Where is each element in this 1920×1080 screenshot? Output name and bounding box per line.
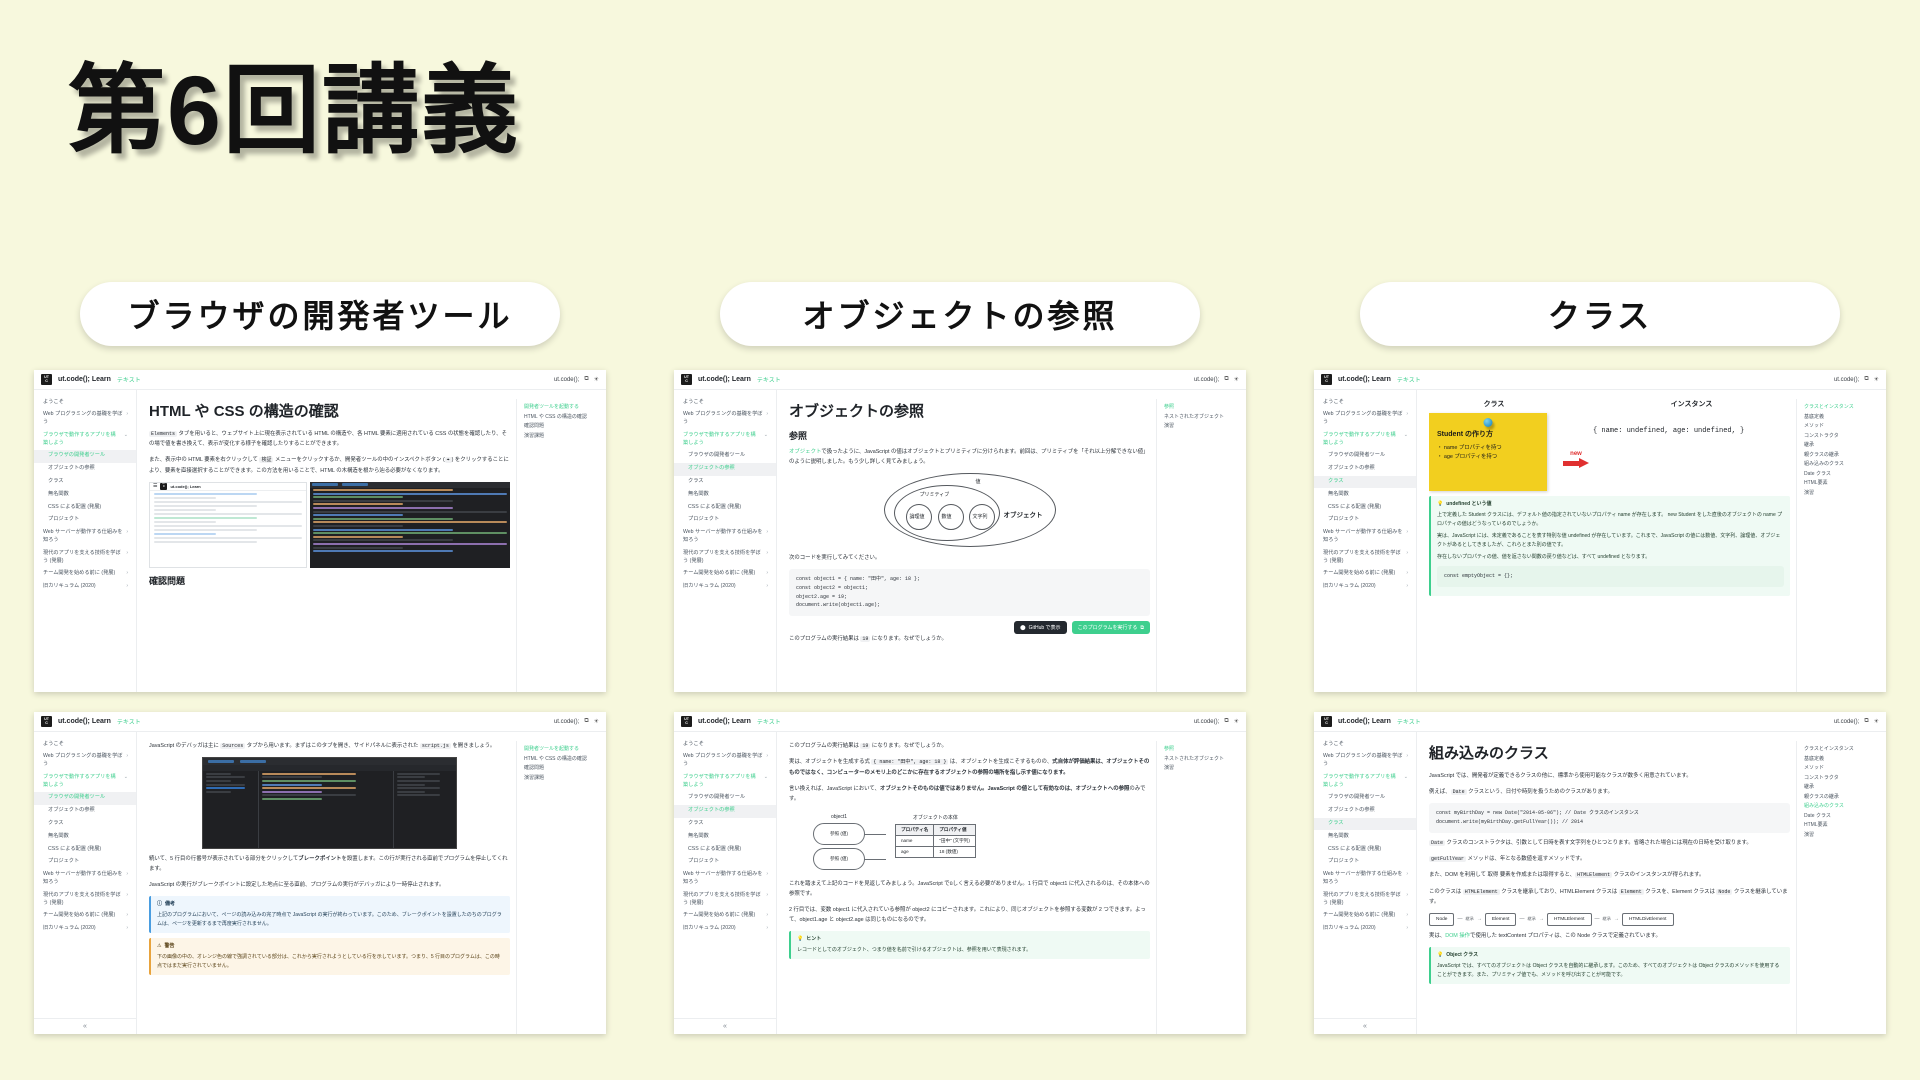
toc-item[interactable]: 演習 xyxy=(1804,489,1882,499)
venn-diagram: 値 プリミティブ 論理値 数値 文字列 オブジェクト xyxy=(884,473,1056,547)
sidebar-scroll[interactable]: ようこそ Web プログラミングの基礎を学ぼう› ブラウザで動作するアプリを構築… xyxy=(674,738,776,1018)
chevron-right-icon: › xyxy=(126,550,128,558)
sidebar-item-anonymous-function[interactable]: 無名関数 xyxy=(674,830,776,843)
paragraph-3: Date クラスのコンストラクタは、引数として日時を表す文字列をひとつとります。… xyxy=(1429,838,1790,848)
mock-brand: ut.code(); Learn xyxy=(170,484,200,489)
sidebar-item-webserver[interactable]: Web サーバーが動作する仕組みを知ろう› xyxy=(674,869,776,890)
callout-body: 上記のプログラムにおいて、ページの読み込みの完了時点で JavaScript の… xyxy=(157,911,504,929)
external-link-icon[interactable]: ⧉ xyxy=(1224,376,1228,383)
inline-code-element: Element xyxy=(1619,889,1644,895)
dom-line xyxy=(313,518,453,520)
sidebar-item-object-reference[interactable]: オブジェクトの参照 xyxy=(1314,463,1416,476)
toc-item[interactable]: メソッド xyxy=(1804,422,1882,432)
dom-line xyxy=(313,493,507,495)
top-right-brand[interactable]: ut.code(); xyxy=(1834,377,1859,383)
dom-line xyxy=(313,536,403,538)
sidebar-item-anonymous-function[interactable]: 無名関数 xyxy=(674,488,776,501)
sidebar-item-browser-apps[interactable]: ブラウザで動作するアプリを構築しよう⌄ xyxy=(34,771,136,792)
table-header-row: プロパティ名 プロパティ値 xyxy=(896,824,976,835)
sidebar-item-old-curriculum[interactable]: 旧カリキュラム (2020)› xyxy=(1314,581,1416,594)
chevron-right-icon: › xyxy=(766,912,768,920)
sidebar-item-modern-tech[interactable]: 現代のアプリを支える技術を学ぼう (発展)› xyxy=(674,889,776,910)
debug-line xyxy=(397,780,440,782)
paragraph-2: また、表示中の HTML 要素を右クリックして 検証 メニューをクリックするか、… xyxy=(149,455,510,475)
sidebar-item-anonymous-function[interactable]: 無名関数 xyxy=(1314,830,1416,843)
table-header-cell: プロパティ名 xyxy=(896,824,934,835)
sidebar-item-project[interactable]: プロジェクト xyxy=(34,514,136,527)
inline-code-inspect: 検証 xyxy=(259,457,273,463)
toc-item[interactable]: コンストラクタ xyxy=(1804,774,1882,784)
sidebar-item-devtools[interactable]: ブラウザの開発者ツール xyxy=(1314,792,1416,805)
sidebar-item-object-reference[interactable]: オブジェクトの参照 xyxy=(34,805,136,818)
toc-item[interactable]: 開発者ツールを起動する xyxy=(524,745,602,755)
sidebar-item-webserver[interactable]: Web サーバーが動作する仕組みを知ろう› xyxy=(674,527,776,548)
sun-icon[interactable]: ☀ xyxy=(1874,376,1879,383)
mock-text-line xyxy=(154,493,257,495)
toc-item[interactable]: 親クラスの継承 xyxy=(1804,451,1882,461)
devtools-chip xyxy=(208,760,234,763)
nav-link-text[interactable]: テキスト xyxy=(757,375,781,384)
main-content: 組み込みのクラス JavaScript では、開発者が定義できるクラスの他に、標… xyxy=(1417,732,1886,1034)
sidebar-item-webprog-basics[interactable]: Web プログラミングの基礎を学ぼう› xyxy=(1314,751,1416,772)
sidebar-scroll[interactable]: ようこそ Web プログラミングの基礎を学ぼう› ブラウザで動作するアプリを構築… xyxy=(1314,738,1416,1018)
sidebar-item-welcome[interactable]: ようこそ xyxy=(674,738,776,751)
topic-pill-class[interactable]: クラス xyxy=(1360,282,1840,346)
devtools-panes xyxy=(203,771,456,849)
sidebar-item-css-layout[interactable]: CSS による配置 (発展) xyxy=(34,843,136,856)
paragraph-4: getFullYear メソッドは、年となる数値を返すメソッドです。 xyxy=(1429,854,1790,864)
debug-line xyxy=(397,776,425,778)
brand-name: ut.code(); Learn xyxy=(698,718,751,725)
screenshot-grid: UT C ut.code(); Learn テキスト ut.code(); ⧉ … xyxy=(0,370,1920,1034)
app-header: UTC ut.code(); Learn テキスト ut.code(); ⧉ ☀ xyxy=(34,712,606,732)
paragraph-7: 実は、DOM 操作で使用した textContent プロパティは、この Nod… xyxy=(1429,931,1790,941)
top-right-brand[interactable]: ut.code(); xyxy=(554,377,579,383)
topic-pill-row: ブラウザの開発者ツール オブジェクトの参照 クラス xyxy=(0,282,1920,346)
reference-box: 参照 (値) xyxy=(813,848,865,870)
code-line xyxy=(262,791,322,793)
sun-icon[interactable]: ☀ xyxy=(1234,376,1239,383)
callout-paragraph: 上で定義した Student クラスには、デフォルト値の指定されていないプロパテ… xyxy=(1437,511,1784,529)
header-right-group: ut.code(); ⧉ ☀ xyxy=(1194,718,1239,725)
main-content: オブジェクトの参照 参照 オブジェクトで扱ったように、JavaScript の値… xyxy=(777,390,1246,692)
sidebar-item-devtools[interactable]: ブラウザの開発者ツール xyxy=(34,450,136,463)
sidebar-item-css-layout[interactable]: CSS による配置 (発展) xyxy=(1314,501,1416,514)
chevron-right-icon: › xyxy=(126,570,128,578)
sidebar[interactable]: ようこそ Web プログラミングの基礎を学ぼう› ブラウザで動作するアプリを構築… xyxy=(1314,390,1417,692)
code-line xyxy=(262,787,356,789)
sidebar-item-css-layout[interactable]: CSS による配置 (発展) xyxy=(674,501,776,514)
link-dom[interactable]: DOM 操作 xyxy=(1445,933,1470,939)
sidebar-item-anonymous-function[interactable]: 無名関数 xyxy=(1314,488,1416,501)
sidebar-item-team-dev[interactable]: チーム開発を始める前に (発展)› xyxy=(674,568,776,581)
callout-paragraph: 実は、JavaScript には、未定義であることを表す特別な値 undefin… xyxy=(1437,532,1784,550)
sidebar-item-old-curriculum[interactable]: 旧カリキュラム (2020)› xyxy=(1314,923,1416,936)
external-link-icon[interactable]: ⧉ xyxy=(1864,376,1868,383)
code-block[interactable]: const myBirthDay = new Date("2014-05-06"… xyxy=(1429,803,1790,833)
sidebar[interactable]: ようこそ Web プログラミングの基礎を学ぼう› ブラウザで動作するアプリを構築… xyxy=(34,390,137,692)
code-block[interactable]: const object1 = { name: "田中", age: 18 };… xyxy=(789,569,1150,616)
toc-item[interactable]: 演習 xyxy=(1164,422,1242,432)
article-column: HTML や CSS の構造の確認 Elements タブを用いると、ウェブサイ… xyxy=(149,399,510,692)
chevron-right-icon: › xyxy=(1406,411,1408,419)
venn-label-string: 文字列 xyxy=(973,513,988,520)
sidebar-item-webprog-basics[interactable]: Web プログラミングの基礎を学ぼう› xyxy=(1314,409,1416,430)
dom-line xyxy=(313,514,403,516)
sidebar-item-webprog-basics[interactable]: Web プログラミングの基礎を学ぼう› xyxy=(34,751,136,772)
warning-icon: ⚠ xyxy=(157,942,161,951)
toc-item[interactable]: 確認問題 xyxy=(524,764,602,774)
screenshot-reference-diagram[interactable]: UTC ut.code(); Learn テキスト ut.code(); ⧉ ☀… xyxy=(674,712,1246,1034)
sidebar-scroll[interactable]: ようこそ Web プログラミングの基礎を学ぼう› ブラウザで動作するアプリを構築… xyxy=(674,396,776,692)
app-header: UTC ut.code(); Learn テキスト ut.code(); ⧉ ☀ xyxy=(1314,712,1886,732)
new-operator-arrow: new xyxy=(1563,427,1589,491)
chevron-down-icon: ⌄ xyxy=(124,774,128,782)
toc-item[interactable]: 確認問題 xyxy=(524,422,602,432)
toc-item[interactable]: HTML や CSS の構造の確認 xyxy=(524,413,602,423)
toc-item[interactable]: HTML要素 xyxy=(1804,479,1882,489)
toc-item[interactable]: 参照 xyxy=(1164,403,1242,413)
chevron-right-icon: › xyxy=(1406,753,1408,761)
toc-item[interactable]: HTML要素 xyxy=(1804,821,1882,831)
nav-link-text[interactable]: テキスト xyxy=(1397,717,1421,726)
sidebar-item-modern-tech[interactable]: 現代のアプリを支える技術を学ぼう (発展)› xyxy=(1314,889,1416,910)
table-of-contents[interactable]: 開発者ツールを起動する HTML や CSS の構造の確認 確認問題 演習課題 xyxy=(516,741,602,1034)
app-body: ようこそ Web プログラミングの基礎を学ぼう› ブラウザで動作するアプリを構築… xyxy=(1314,390,1886,692)
sidebar[interactable]: ようこそ Web プログラミングの基礎を学ぼう› ブラウザで動作するアプリを構築… xyxy=(1314,732,1417,1034)
table-header-cell: プロパティ値 xyxy=(934,824,976,835)
chevron-right-icon: › xyxy=(1406,892,1408,900)
tree-node xyxy=(206,776,245,778)
external-link-icon[interactable]: ⧉ xyxy=(1864,718,1868,725)
brand-name: ut.code(); Learn xyxy=(58,376,111,383)
sidebar-item-class[interactable]: クラス xyxy=(34,818,136,831)
app-body: ようこそ Web プログラミングの基礎を学ぼう› ブラウザで動作するアプリを構築… xyxy=(674,390,1246,692)
sidebar[interactable]: ようこそ Web プログラミングの基礎を学ぼう› ブラウザで動作するアプリを構築… xyxy=(674,732,777,1034)
app-body: ようこそ Web プログラミングの基礎を学ぼう› ブラウザで動作するアプリを構築… xyxy=(34,732,606,1034)
sidebar-item-project[interactable]: プロジェクト xyxy=(34,856,136,869)
toc-item[interactable]: 継承 xyxy=(1804,783,1882,793)
sidebar-item-webserver[interactable]: Web サーバーが動作する仕組みを知ろう› xyxy=(34,869,136,890)
app-header: UTC ut.code(); Learn テキスト ut.code(); ⧉ ☀ xyxy=(1314,370,1886,390)
toc-item[interactable]: ネストされたオブジェクト xyxy=(1164,413,1242,423)
sun-icon[interactable]: ☀ xyxy=(594,376,599,383)
sidebar-item-class[interactable]: クラス xyxy=(34,476,136,489)
table-of-contents[interactable]: 参照 ネストされたオブジェクト 演習 xyxy=(1156,741,1242,1034)
external-link-icon[interactable]: ⧉ xyxy=(1224,718,1228,725)
sidebar-item-webprog-basics[interactable]: Web プログラミングの基礎を学ぼう› xyxy=(674,751,776,772)
sidebar-item-project[interactable]: プロジェクト xyxy=(1314,856,1416,869)
callout-code: const emptyObject = {}; xyxy=(1437,566,1784,587)
callout-body: JavaScript では、すべてのオブジェクトは Object クラスを自動的… xyxy=(1437,962,1784,980)
table-of-contents[interactable]: 開発者ツールを起動する HTML や CSS の構造の確認 確認問題 演習課題 xyxy=(516,399,602,692)
sidebar-item-css-layout[interactable]: CSS による配置 (発展) xyxy=(1314,843,1416,856)
screenshot-class-instance[interactable]: UTC ut.code(); Learn テキスト ut.code(); ⧉ ☀… xyxy=(1314,370,1886,692)
dom-line xyxy=(313,521,507,523)
logo-bottom-text: C xyxy=(45,380,48,384)
github-view-button[interactable]: ⬤GitHub で表示 xyxy=(1014,621,1067,634)
sidebar-item-devtools[interactable]: ブラウザの開発者ツール xyxy=(1314,450,1416,463)
tree-node xyxy=(206,791,231,793)
toc-item[interactable]: ネストされたオブジェクト xyxy=(1164,755,1242,765)
sidebar-item-devtools[interactable]: ブラウザの開発者ツール xyxy=(34,792,136,805)
top-right-brand[interactable]: ut.code(); xyxy=(1194,719,1219,725)
sun-icon[interactable]: ☀ xyxy=(594,718,599,725)
warning-callout: ⚠警告 下の画像の中の、オレンジ色の線で強調されている部分は、これから実行されよ… xyxy=(149,938,510,975)
debug-line xyxy=(397,794,440,796)
arrow-right-icon xyxy=(1563,458,1589,468)
sidebar-item-project[interactable]: プロジェクト xyxy=(674,856,776,869)
app-body: ようこそ Web プログラミングの基礎を学ぼう› ブラウザで動作するアプリを構築… xyxy=(1314,732,1886,1034)
sidebar-item-modern-tech[interactable]: 現代のアプリを支える技術を学ぼう (発展)› xyxy=(34,547,136,568)
chain-label: 継承 xyxy=(1527,916,1535,922)
chevron-right-icon: › xyxy=(1406,912,1408,920)
sidebar-item-anonymous-function[interactable]: 無名関数 xyxy=(34,830,136,843)
instance-object-code: { name: undefined, age: undefined, } xyxy=(1593,425,1790,438)
app-header: UT C ut.code(); Learn テキスト ut.code(); ⧉ … xyxy=(34,370,606,390)
chevron-down-icon: ⌄ xyxy=(764,432,768,440)
toc-item[interactable]: 基底定義 xyxy=(1804,413,1882,423)
toc-item[interactable]: 開発者ツールを起動する xyxy=(524,403,602,413)
nav-link-text[interactable]: テキスト xyxy=(1397,375,1421,384)
sidebar-item-class[interactable]: クラス xyxy=(674,476,776,489)
property-table: プロパティ名 プロパティ値 name "田中" (文字列) xyxy=(895,824,976,858)
callout-title: 💡ヒント xyxy=(797,935,1144,944)
article-column: このプログラムの実行結果は 19 になります。なぜでしょうか。 実は、オブジェク… xyxy=(789,741,1150,1034)
sticky-note: Student の作り方 ・ name プロパティを持つ ・ age プロパティ… xyxy=(1429,413,1547,491)
sidebar-item-welcome[interactable]: ようこそ xyxy=(34,396,136,409)
chevron-down-icon: ⌄ xyxy=(1404,432,1408,440)
toc-item[interactable]: クラスとインスタンス xyxy=(1804,403,1882,413)
sidebar-item-class[interactable]: クラス xyxy=(674,818,776,831)
sidebar-item-class[interactable]: クラス xyxy=(1314,476,1416,489)
screenshot-devtools-structure[interactable]: UT C ut.code(); Learn テキスト ut.code(); ⧉ … xyxy=(34,370,606,692)
nav-link-text[interactable]: テキスト xyxy=(117,717,141,726)
code-line xyxy=(262,776,322,778)
toc-item[interactable]: メソッド xyxy=(1804,764,1882,774)
sun-icon[interactable]: ☀ xyxy=(1234,718,1239,725)
sidebar-item-welcome[interactable]: ようこそ xyxy=(674,396,776,409)
inline-code-elements: Elements xyxy=(149,431,177,437)
sidebar-item-old-curriculum[interactable]: 旧カリキュラム (2020)› xyxy=(34,923,136,936)
toc-item[interactable]: 親クラスの継承 xyxy=(1804,793,1882,803)
dom-line xyxy=(313,550,453,552)
header-right-group: ut.code(); ⧉ ☀ xyxy=(1834,718,1879,725)
sidebar-item-welcome[interactable]: ようこそ xyxy=(1314,396,1416,409)
lightbulb-icon: 💡 xyxy=(1437,951,1443,960)
sidebar-scroll[interactable]: ようこそ Web プログラミングの基礎を学ぼう› ブラウザで動作するアプリを構築… xyxy=(34,738,136,1018)
chevron-down-icon: ⌄ xyxy=(1404,774,1408,782)
nav-link-text[interactable]: テキスト xyxy=(757,717,781,726)
sidebar-item-modern-tech[interactable]: 現代のアプリを支える技術を学ぼう (発展)› xyxy=(34,889,136,910)
sidebar-item-browser-apps[interactable]: ブラウザで動作するアプリを構築しよう⌄ xyxy=(674,771,776,792)
sidebar-item-modern-tech[interactable]: 現代のアプリを支える技術を学ぼう (発展)› xyxy=(1314,547,1416,568)
topic-pill-object-reference[interactable]: オブジェクトの参照 xyxy=(720,282,1200,346)
sidebar-item-webserver[interactable]: Web サーバーが動作する仕組みを知ろう› xyxy=(1314,869,1416,890)
toc-item[interactable]: Date クラス xyxy=(1804,470,1882,480)
sidebar-item-old-curriculum[interactable]: 旧カリキュラム (2020)› xyxy=(674,581,776,594)
sidebar-item-css-layout[interactable]: CSS による配置 (発展) xyxy=(674,843,776,856)
arrow-right-icon: → xyxy=(1477,916,1482,922)
sidebar-item-team-dev[interactable]: チーム開発を始める前に (発展)› xyxy=(34,568,136,581)
sidebar-collapse-button[interactable]: « xyxy=(1314,1018,1416,1034)
toc-item[interactable]: 継承 xyxy=(1804,441,1882,451)
toc-item[interactable]: 基底定義 xyxy=(1804,755,1882,765)
sidebar-scroll[interactable]: ようこそ Web プログラミングの基礎を学ぼう› ブラウザで動作するアプリを構築… xyxy=(34,396,136,692)
chevron-right-icon: › xyxy=(126,912,128,920)
sidebar-item-webprog-basics[interactable]: Web プログラミングの基礎を学ぼう› xyxy=(674,409,776,430)
sidebar-item-anonymous-function[interactable]: 無名関数 xyxy=(34,488,136,501)
lightbulb-icon: 💡 xyxy=(797,935,803,944)
sidebar-item-team-dev[interactable]: チーム開発を始める前に (発展)› xyxy=(1314,568,1416,581)
sidebar-item-welcome[interactable]: ようこそ xyxy=(1314,738,1416,751)
sidebar-item-webserver[interactable]: Web サーバーが動作する仕組みを知ろう› xyxy=(1314,527,1416,548)
page-heading: HTML や CSS の構造の確認 xyxy=(149,400,510,421)
top-right-brand[interactable]: ut.code(); xyxy=(554,719,579,725)
venn-label-number: 数値 xyxy=(942,513,952,520)
toc-item[interactable]: 演習課題 xyxy=(524,432,602,442)
chain-label: 継承 xyxy=(1465,916,1473,922)
sidebar[interactable]: ようこそ Web プログラミングの基礎を学ぼう› ブラウザで動作するアプリを構築… xyxy=(34,732,137,1034)
topic-pill-devtools[interactable]: ブラウザの開発者ツール xyxy=(80,282,560,346)
chevron-right-icon: › xyxy=(766,411,768,419)
utcode-logo-icon: UTC xyxy=(681,716,692,727)
screenshot-debugger[interactable]: UTC ut.code(); Learn テキスト ut.code(); ⧉ ☀… xyxy=(34,712,606,1034)
utcode-logo-icon: UT C xyxy=(41,374,52,385)
utcode-logo-icon: UTC xyxy=(681,374,692,385)
sidebar-item-modern-tech[interactable]: 現代のアプリを支える技術を学ぼう (発展)› xyxy=(674,547,776,568)
mock-text-line xyxy=(154,505,257,507)
sidebar-item-browser-apps[interactable]: ブラウザで動作するアプリを構築しよう⌄ xyxy=(34,429,136,450)
chain-node-node: Node xyxy=(1429,913,1454,926)
sidebar-item-team-dev[interactable]: チーム開発を始める前に (発展)› xyxy=(674,910,776,923)
sidebar-item-old-curriculum[interactable]: 旧カリキュラム (2020)› xyxy=(674,923,776,936)
page-heading: オブジェクトの参照 xyxy=(789,400,1150,421)
toc-item[interactable]: 組み込みのクラス xyxy=(1804,460,1882,470)
hamburger-icon: ☰ xyxy=(153,483,157,489)
sidebar-scroll[interactable]: ようこそ Web プログラミングの基礎を学ぼう› ブラウザで動作するアプリを構築… xyxy=(1314,396,1416,692)
toc-item[interactable]: 参照 xyxy=(1164,745,1242,755)
inheritance-chain-diagram: Node — 継承 → Element — 継承 → HTMLElement — xyxy=(1429,913,1790,926)
sidebar-item-welcome[interactable]: ようこそ xyxy=(34,738,136,751)
toc-item[interactable]: 演習課題 xyxy=(524,774,602,784)
toc-item[interactable]: Date クラス xyxy=(1804,812,1882,822)
top-right-brand[interactable]: ut.code(); xyxy=(1194,377,1219,383)
table-of-contents[interactable]: クラスとインスタンス 基底定義 メソッド コンストラクタ 継承 親クラスの継承 … xyxy=(1796,741,1882,1034)
sidebar-item-class[interactable]: クラス xyxy=(1314,818,1416,831)
link-object[interactable]: オブジェクト xyxy=(789,449,821,455)
sidebar-item-team-dev[interactable]: チーム開発を始める前に (発展)› xyxy=(34,910,136,923)
chevron-right-icon: › xyxy=(766,529,768,537)
screenshot-object-reference[interactable]: UTC ut.code(); Learn テキスト ut.code(); ⧉ ☀… xyxy=(674,370,1246,692)
mock-text-line xyxy=(154,509,216,511)
sidebar-item-object-reference[interactable]: オブジェクトの参照 xyxy=(34,463,136,476)
sidebar-item-old-curriculum[interactable]: 旧カリキュラム (2020)› xyxy=(34,581,136,594)
table-of-contents[interactable]: 参照 ネストされたオブジェクト 演習 xyxy=(1156,399,1242,692)
sidebar-item-browser-apps[interactable]: ブラウザで動作するアプリを構築しよう⌄ xyxy=(1314,771,1416,792)
utcode-logo-icon: UTC xyxy=(1321,374,1332,385)
table-of-contents[interactable]: クラスとインスタンス 基底定義 メソッド コンストラクタ 継承 親クラスの継承 … xyxy=(1796,399,1882,692)
toc-item[interactable]: 演習 xyxy=(1804,831,1882,841)
nav-link-text[interactable]: テキスト xyxy=(117,375,141,384)
table-cell: 18 (数値) xyxy=(934,846,976,857)
app-body: ようこそ Web プログラミングの基礎を学ぼう› ブラウザで動作するアプリを構築… xyxy=(34,390,606,692)
sidebar-item-object-reference[interactable]: オブジェクトの参照 xyxy=(1314,805,1416,818)
code-line xyxy=(262,794,356,796)
page-heading: 組み込みのクラス xyxy=(1429,742,1790,763)
chevron-right-icon: › xyxy=(1406,529,1408,537)
main-content: JavaScript のデバッガは主に Sources タブから用います。まずは… xyxy=(137,732,606,1034)
sidebar-item-team-dev[interactable]: チーム開発を始める前に (発展)› xyxy=(1314,910,1416,923)
utcode-logo-icon-small: UTC xyxy=(160,483,167,490)
top-right-brand[interactable]: ut.code(); xyxy=(1834,719,1859,725)
dom-line xyxy=(313,496,403,498)
sidebar-collapse-button[interactable]: « xyxy=(34,1018,136,1034)
sidebar-item-browser-apps[interactable]: ブラウザで動作するアプリを構築しよう⌄ xyxy=(674,429,776,450)
mock-text-line xyxy=(154,517,257,519)
app-header: UTC ut.code(); Learn テキスト ut.code(); ⧉ ☀ xyxy=(674,712,1246,732)
screenshot-builtin-classes[interactable]: UTC ut.code(); Learn テキスト ut.code(); ⧉ ☀… xyxy=(1314,712,1886,1034)
mock-text-line xyxy=(154,513,302,515)
external-link-icon[interactable]: ⧉ xyxy=(584,376,588,383)
sidebar-item-project[interactable]: プロジェクト xyxy=(1314,514,1416,527)
column-heading-class: クラス xyxy=(1429,399,1559,409)
sun-icon[interactable]: ☀ xyxy=(1874,718,1879,725)
paragraph-4: これを踏まえて上記のコードを見返してみましょう。JavaScript でūしく言… xyxy=(789,879,1150,899)
mock-text-line xyxy=(154,533,216,535)
dom-line xyxy=(313,529,453,531)
sidebar-item-browser-apps[interactable]: ブラウザで動作するアプリを構築しよう⌄ xyxy=(1314,429,1416,450)
tip-callout-undefined: 💡undefined という値 上で定義した Student クラスには、デフォ… xyxy=(1429,496,1790,596)
sidebar[interactable]: ようこそ Web プログラミングの基礎を学ぼう› ブラウザで動作するアプリを構築… xyxy=(674,390,777,692)
toc-item[interactable]: 演習 xyxy=(1164,764,1242,774)
inline-code-object-literal: { name: "田中", age: 18 } xyxy=(871,759,948,765)
debug-line xyxy=(397,787,440,789)
chevron-right-icon: › xyxy=(126,892,128,900)
chevron-right-icon: › xyxy=(766,753,768,761)
chevron-right-icon: › xyxy=(126,529,128,537)
venn-label-boolean: 論理値 xyxy=(910,513,925,520)
sidebar-collapse-button[interactable]: « xyxy=(674,1018,776,1034)
sidebar-item-object-reference[interactable]: オブジェクトの参照 xyxy=(674,805,776,818)
diagram-label-object1: object1 xyxy=(793,814,885,820)
main-content: このプログラムの実行結果は 19 になります。なぜでしょうか。 実は、オブジェク… xyxy=(777,732,1246,1034)
toc-item[interactable]: HTML や CSS の構造の確認 xyxy=(524,755,602,765)
pin-icon xyxy=(1484,418,1493,427)
sidebar-item-devtools[interactable]: ブラウザの開発者ツール xyxy=(674,792,776,805)
inline-code-date: Date xyxy=(1429,840,1445,846)
utcode-logo-icon: UTC xyxy=(1321,716,1332,727)
sidebar-item-object-reference[interactable]: オブジェクトの参照 xyxy=(674,463,776,476)
sidebar-item-webprog-basics[interactable]: Web プログラミングの基礎を学ぼう› xyxy=(34,409,136,430)
paragraph-2: 実は、オブジェクトを生成する式 { name: "田中", age: 18 } … xyxy=(789,757,1150,777)
sidebar-item-devtools[interactable]: ブラウザの開発者ツール xyxy=(674,450,776,463)
sidebar-item-css-layout[interactable]: CSS による配置 (発展) xyxy=(34,501,136,514)
arrow-right-icon: — xyxy=(1519,916,1524,922)
toc-item[interactable]: 組み込みのクラス xyxy=(1804,802,1882,812)
toc-item[interactable]: コンストラクタ xyxy=(1804,432,1882,442)
dom-line xyxy=(313,503,403,505)
toc-item[interactable]: クラスとインスタンス xyxy=(1804,745,1882,755)
devtools-tabbar xyxy=(310,482,510,488)
sidebar-item-project[interactable]: プロジェクト xyxy=(674,514,776,527)
sidebar-item-webserver[interactable]: Web サーバーが動作する仕組みを知ろう› xyxy=(34,527,136,548)
code-line xyxy=(262,773,356,775)
run-program-button[interactable]: このプログラムを実行する⧉ xyxy=(1072,621,1150,634)
article-column: オブジェクトの参照 参照 オブジェクトで扱ったように、JavaScript の値… xyxy=(789,399,1150,692)
external-link-icon[interactable]: ⧉ xyxy=(584,718,588,725)
brand-name: ut.code(); Learn xyxy=(58,718,111,725)
